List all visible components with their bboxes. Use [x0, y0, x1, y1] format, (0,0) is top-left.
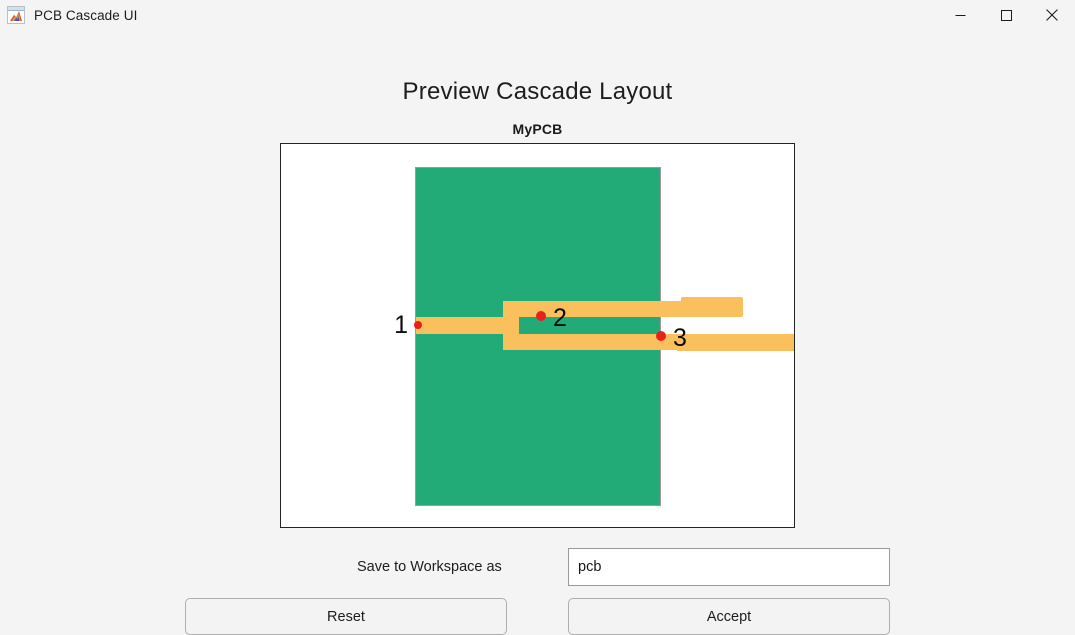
port-label-2: 2 — [553, 304, 567, 332]
port-marker-3 — [656, 331, 666, 341]
app-window: PCB Cascade UI Preview Cascade Layout My… — [0, 0, 1075, 617]
close-button[interactable] — [1029, 0, 1075, 30]
minimize-button[interactable] — [937, 0, 983, 30]
title-bar-left: PCB Cascade UI — [0, 6, 137, 24]
workspace-variable-input[interactable] — [568, 548, 890, 586]
port-label-1: 1 — [394, 311, 408, 339]
title-bar: PCB Cascade UI — [0, 0, 1075, 30]
matlab-membrane-icon — [7, 6, 25, 24]
pcb-preview-axes[interactable]: 1 2 3 — [280, 143, 795, 528]
maximize-button[interactable] — [983, 0, 1029, 30]
port-label-3: 3 — [673, 324, 687, 352]
plot-title: MyPCB — [0, 121, 1075, 137]
save-to-workspace-row: Save to Workspace as — [0, 548, 1075, 586]
window-controls — [937, 0, 1075, 30]
window-title: PCB Cascade UI — [34, 8, 137, 23]
pcb-layout-drawing: 1 2 3 — [281, 144, 794, 527]
port-marker-2 — [536, 311, 546, 321]
port-marker-1 — [414, 321, 422, 329]
save-to-workspace-label: Save to Workspace as — [357, 548, 502, 586]
page-title: Preview Cascade Layout — [0, 78, 1075, 106]
main-content: Preview Cascade Layout MyPCB — [0, 30, 1075, 617]
